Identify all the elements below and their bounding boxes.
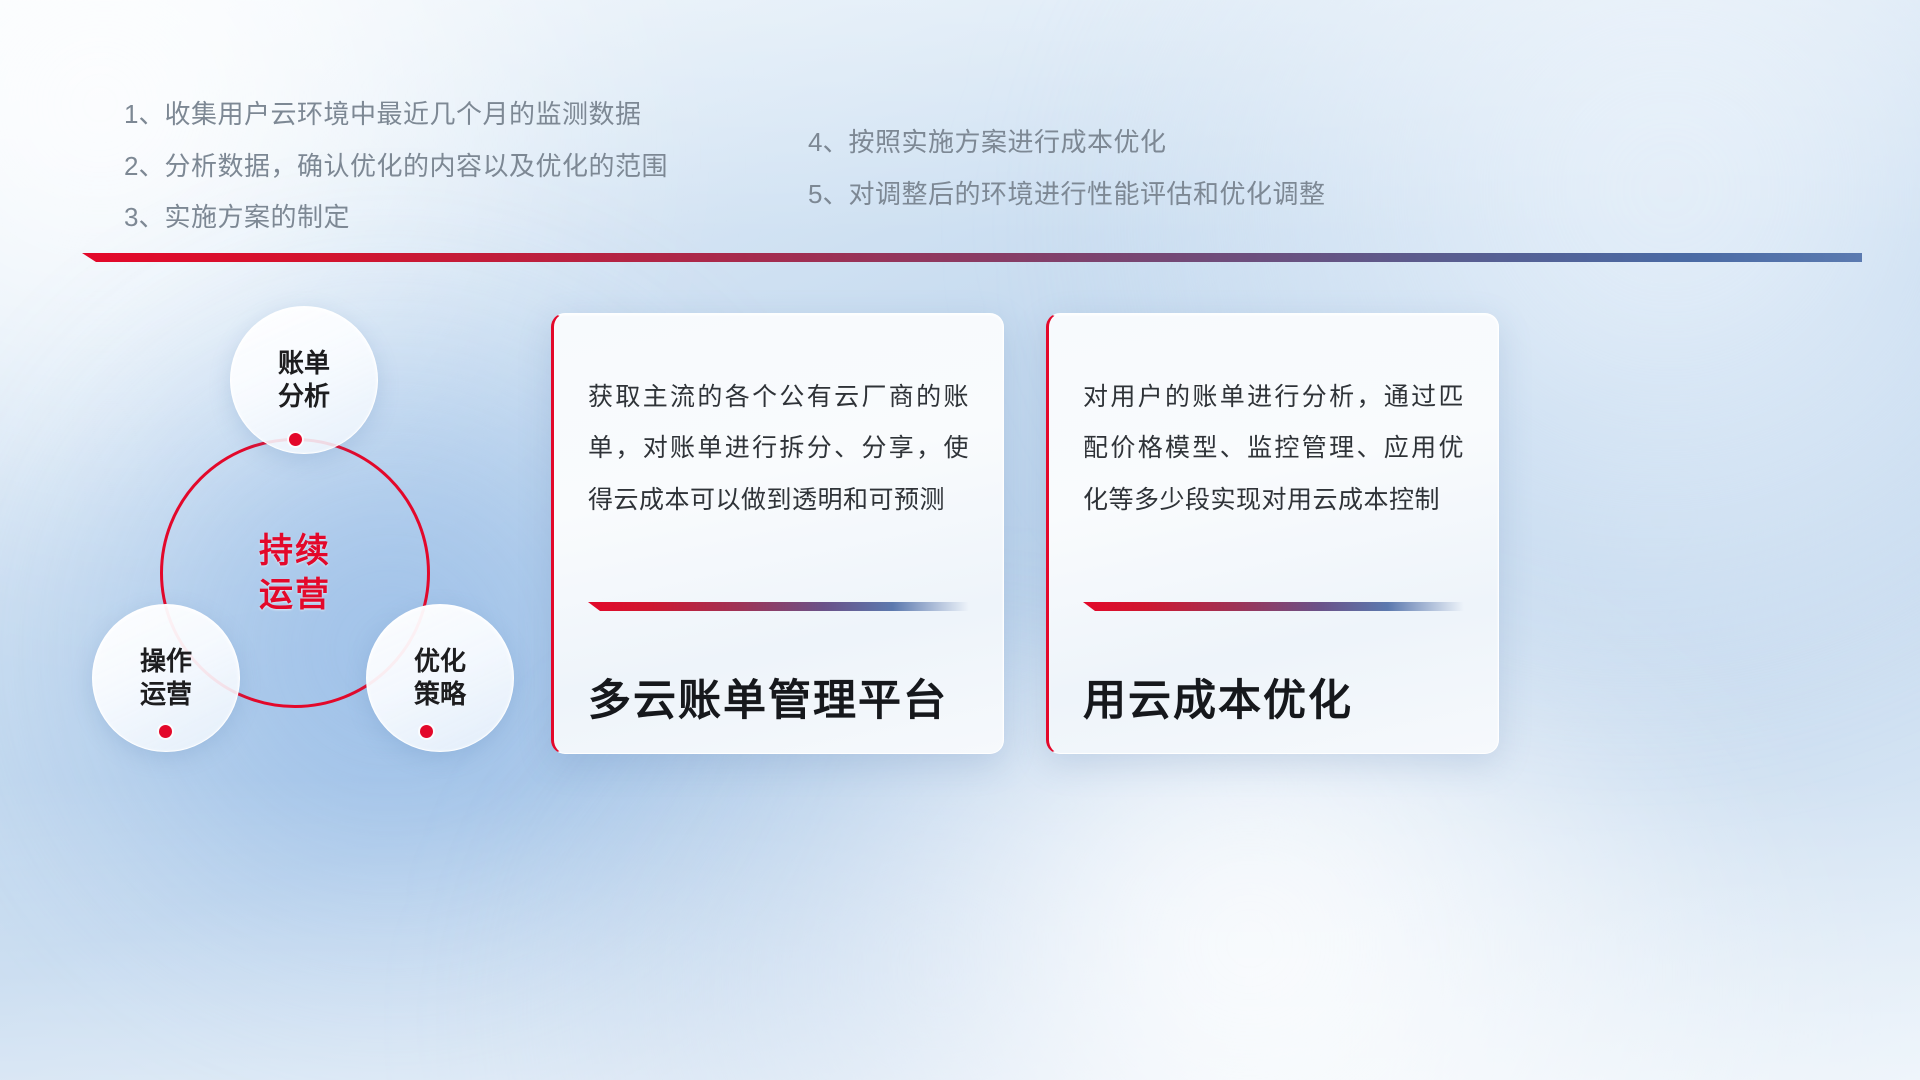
list-item-number: 4、	[808, 127, 848, 157]
list-item: 5、对调整后的环境进行性能评估和优化调整	[808, 178, 1325, 211]
list-item: 1、收集用户云环境中最近几个月的监测数据	[124, 98, 668, 131]
venn-diagram: 持续 运营 账单 分析 操作 运营 优化 策略	[70, 288, 540, 768]
list-item-label: 实施方案的制定	[164, 202, 350, 232]
steps-list-right: 4、按照实施方案进行成本优化 5、对调整后的环境进行性能评估和优化调整	[808, 126, 1325, 229]
card-body-text: 获取主流的各个公有云厂商的账单，对账单进行拆分、分享，使得云成本可以做到透明和可…	[588, 372, 969, 526]
venn-connector-dot-top	[289, 433, 302, 446]
venn-node-optimization-strategy[interactable]: 优化 策略	[366, 604, 514, 752]
card-title: 用云成本优化	[1083, 666, 1353, 728]
card-divider	[1083, 602, 1464, 611]
list-item: 2、分析数据，确认优化的内容以及优化的范围	[124, 150, 668, 183]
list-item-number: 1、	[124, 99, 164, 129]
feature-card-multicloud-billing[interactable]: 获取主流的各个公有云厂商的账单，对账单进行拆分、分享，使得云成本可以做到透明和可…	[551, 313, 1004, 754]
list-item-label: 按照实施方案进行成本优化	[848, 127, 1166, 157]
venn-node-line-1: 优化	[414, 645, 466, 678]
card-title: 多云账单管理平台	[588, 666, 948, 728]
venn-node-line-1: 账单	[278, 347, 330, 380]
list-item-number: 3、	[124, 202, 164, 232]
list-item: 3、实施方案的制定	[124, 201, 668, 234]
venn-connector-dot-bottom-left	[159, 725, 172, 738]
list-item-label: 对调整后的环境进行性能评估和优化调整	[848, 179, 1325, 209]
venn-connector-dot-bottom-right	[420, 725, 433, 738]
list-item: 4、按照实施方案进行成本优化	[808, 126, 1325, 159]
steps-list-left: 1、收集用户云环境中最近几个月的监测数据 2、分析数据，确认优化的内容以及优化的…	[124, 98, 668, 253]
venn-node-line-1: 操作	[140, 645, 192, 678]
venn-node-bill-analysis[interactable]: 账单 分析	[230, 306, 378, 454]
list-item-number: 2、	[124, 151, 164, 181]
section-divider	[82, 253, 1862, 262]
venn-node-line-2: 策略	[414, 678, 466, 711]
card-divider	[588, 602, 969, 611]
list-item-number: 5、	[808, 179, 848, 209]
venn-node-line-2: 分析	[278, 380, 330, 413]
venn-node-line-2: 运营	[140, 678, 192, 711]
list-item-label: 分析数据，确认优化的内容以及优化的范围	[164, 151, 668, 181]
list-item-label: 收集用户云环境中最近几个月的监测数据	[164, 99, 641, 129]
card-body-text: 对用户的账单进行分析，通过匹配价格模型、监控管理、应用优化等多少段实现对用云成本…	[1083, 372, 1464, 526]
feature-card-cost-optimization[interactable]: 对用户的账单进行分析，通过匹配价格模型、监控管理、应用优化等多少段实现对用云成本…	[1046, 313, 1499, 754]
